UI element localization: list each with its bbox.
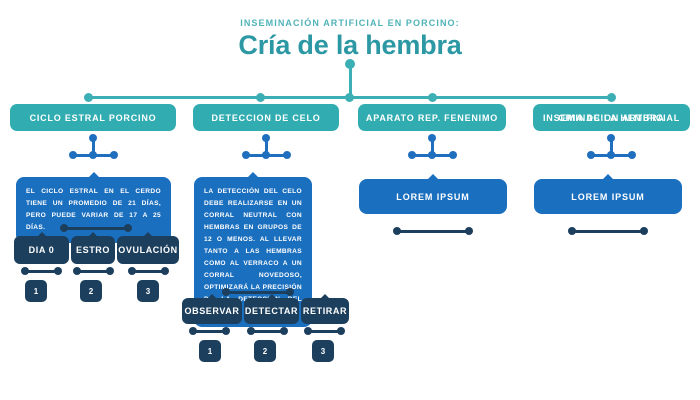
t-dot-left-1 bbox=[69, 151, 77, 159]
branch-heading-deteccion-de-celo[interactable]: DETECCION DE CELO bbox=[193, 104, 339, 131]
infographic-canvas: INSEMINACIÓN ARTIFICIAL EN PORCINO: Cría… bbox=[0, 0, 700, 400]
t-dot-top-4 bbox=[607, 134, 615, 142]
t-dot-left-3 bbox=[408, 151, 416, 159]
badge-text-1c: 3 bbox=[146, 287, 150, 296]
page-title: Cría de la hembra bbox=[0, 30, 700, 61]
item-label-retirar: RETIRAR bbox=[303, 306, 347, 316]
branch-heading-aparato-rep-fenenimo[interactable]: APARATO REP. FENENIMO bbox=[358, 104, 506, 131]
bus-dot-4 bbox=[428, 93, 437, 102]
branch-4-spread-connector bbox=[568, 227, 648, 235]
branch-heading-ciclo-estral-porcino[interactable]: CICLO ESTRAL PORCINO bbox=[10, 104, 176, 131]
t-dot-mid-4 bbox=[607, 151, 615, 159]
item-label-dia-0: DIA 0 bbox=[29, 245, 55, 255]
branch-body-aparato-rep: LOREM IPSUM bbox=[359, 179, 507, 214]
t-dot-mid-2 bbox=[262, 151, 270, 159]
item-box-observar[interactable]: OBSERVAR bbox=[182, 298, 242, 324]
item-box-estro[interactable]: ESTRO bbox=[71, 236, 115, 264]
item-box-dia-0[interactable]: DIA 0 bbox=[14, 236, 69, 264]
item-box-ovulacion[interactable]: OVULACIÓN bbox=[117, 236, 179, 264]
branch-heading-label-2: DETECCION DE CELO bbox=[193, 113, 339, 123]
bus-dot-3 bbox=[345, 93, 354, 102]
item-label-observar: OBSERVAR bbox=[185, 306, 240, 316]
item-box-retirar[interactable]: RETIRAR bbox=[301, 298, 349, 324]
branch-3-spread-connector bbox=[393, 227, 473, 235]
t-dot-left-2 bbox=[242, 151, 250, 159]
item-label-ovulacion: OVULACIÓN bbox=[118, 245, 177, 255]
item-number-badge-1c: 3 bbox=[137, 280, 159, 302]
t-dot-right-1 bbox=[110, 151, 118, 159]
t-dot-mid-3 bbox=[428, 151, 436, 159]
item-number-badge-1b: 2 bbox=[80, 280, 102, 302]
item-number-badge-2b: 2 bbox=[254, 340, 276, 362]
item-connector-estro bbox=[73, 267, 114, 275]
item-label-detectar: DETECTAR bbox=[245, 306, 298, 316]
item-box-detectar[interactable]: DETECTAR bbox=[244, 298, 299, 324]
branch-heading-label-1: CICLO ESTRAL PORCINO bbox=[10, 113, 176, 123]
item-number-badge-2c: 3 bbox=[312, 340, 334, 362]
branch-heading-label-3: APARATO REP. FENENIMO bbox=[358, 113, 506, 123]
branch-body-inseminacion: LOREM IPSUM bbox=[534, 179, 682, 214]
item-connector-observar bbox=[189, 327, 230, 335]
bus-dot-2 bbox=[256, 93, 265, 102]
page-kicker: INSEMINACIÓN ARTIFICIAL EN PORCINO: bbox=[0, 18, 700, 28]
bus-dot-1 bbox=[84, 93, 93, 102]
t-dot-left-4 bbox=[587, 151, 595, 159]
t-dot-right-3 bbox=[449, 151, 457, 159]
t-dot-top-1 bbox=[89, 134, 97, 142]
bus-dot-5 bbox=[607, 93, 616, 102]
badge-text-1b: 2 bbox=[89, 287, 93, 296]
t-dot-top-3 bbox=[428, 134, 436, 142]
item-connector-dia-0 bbox=[21, 267, 62, 275]
badge-text-2a: 1 bbox=[208, 347, 212, 356]
badge-text-1a: 1 bbox=[34, 287, 38, 296]
branch-body-text-3: LOREM IPSUM bbox=[396, 192, 469, 202]
t-dot-top-2 bbox=[262, 134, 270, 142]
t-dot-right-4 bbox=[628, 151, 636, 159]
branch-2-spread-connector bbox=[222, 288, 294, 296]
item-number-badge-1a: 1 bbox=[25, 280, 47, 302]
badge-text-2b: 2 bbox=[263, 347, 267, 356]
branch-heading-overlay-4: CRIA DE LA HEMBRA bbox=[533, 113, 690, 123]
t-dot-mid-1 bbox=[89, 151, 97, 159]
item-label-estro: ESTRO bbox=[76, 245, 110, 255]
branch-heading-inseminacion-artificial[interactable]: INSEMINACION ARTIFICIAL CRIA DE LA HEMBR… bbox=[533, 104, 690, 131]
item-connector-retirar bbox=[304, 327, 345, 335]
branch-body-text-4: LOREM IPSUM bbox=[571, 192, 644, 202]
item-connector-detectar bbox=[247, 327, 288, 335]
badge-text-2c: 3 bbox=[321, 347, 325, 356]
item-number-badge-2a: 1 bbox=[199, 340, 221, 362]
t-dot-right-2 bbox=[283, 151, 291, 159]
item-connector-ovulacion bbox=[128, 267, 169, 275]
branch-1-spread-connector bbox=[60, 224, 132, 232]
